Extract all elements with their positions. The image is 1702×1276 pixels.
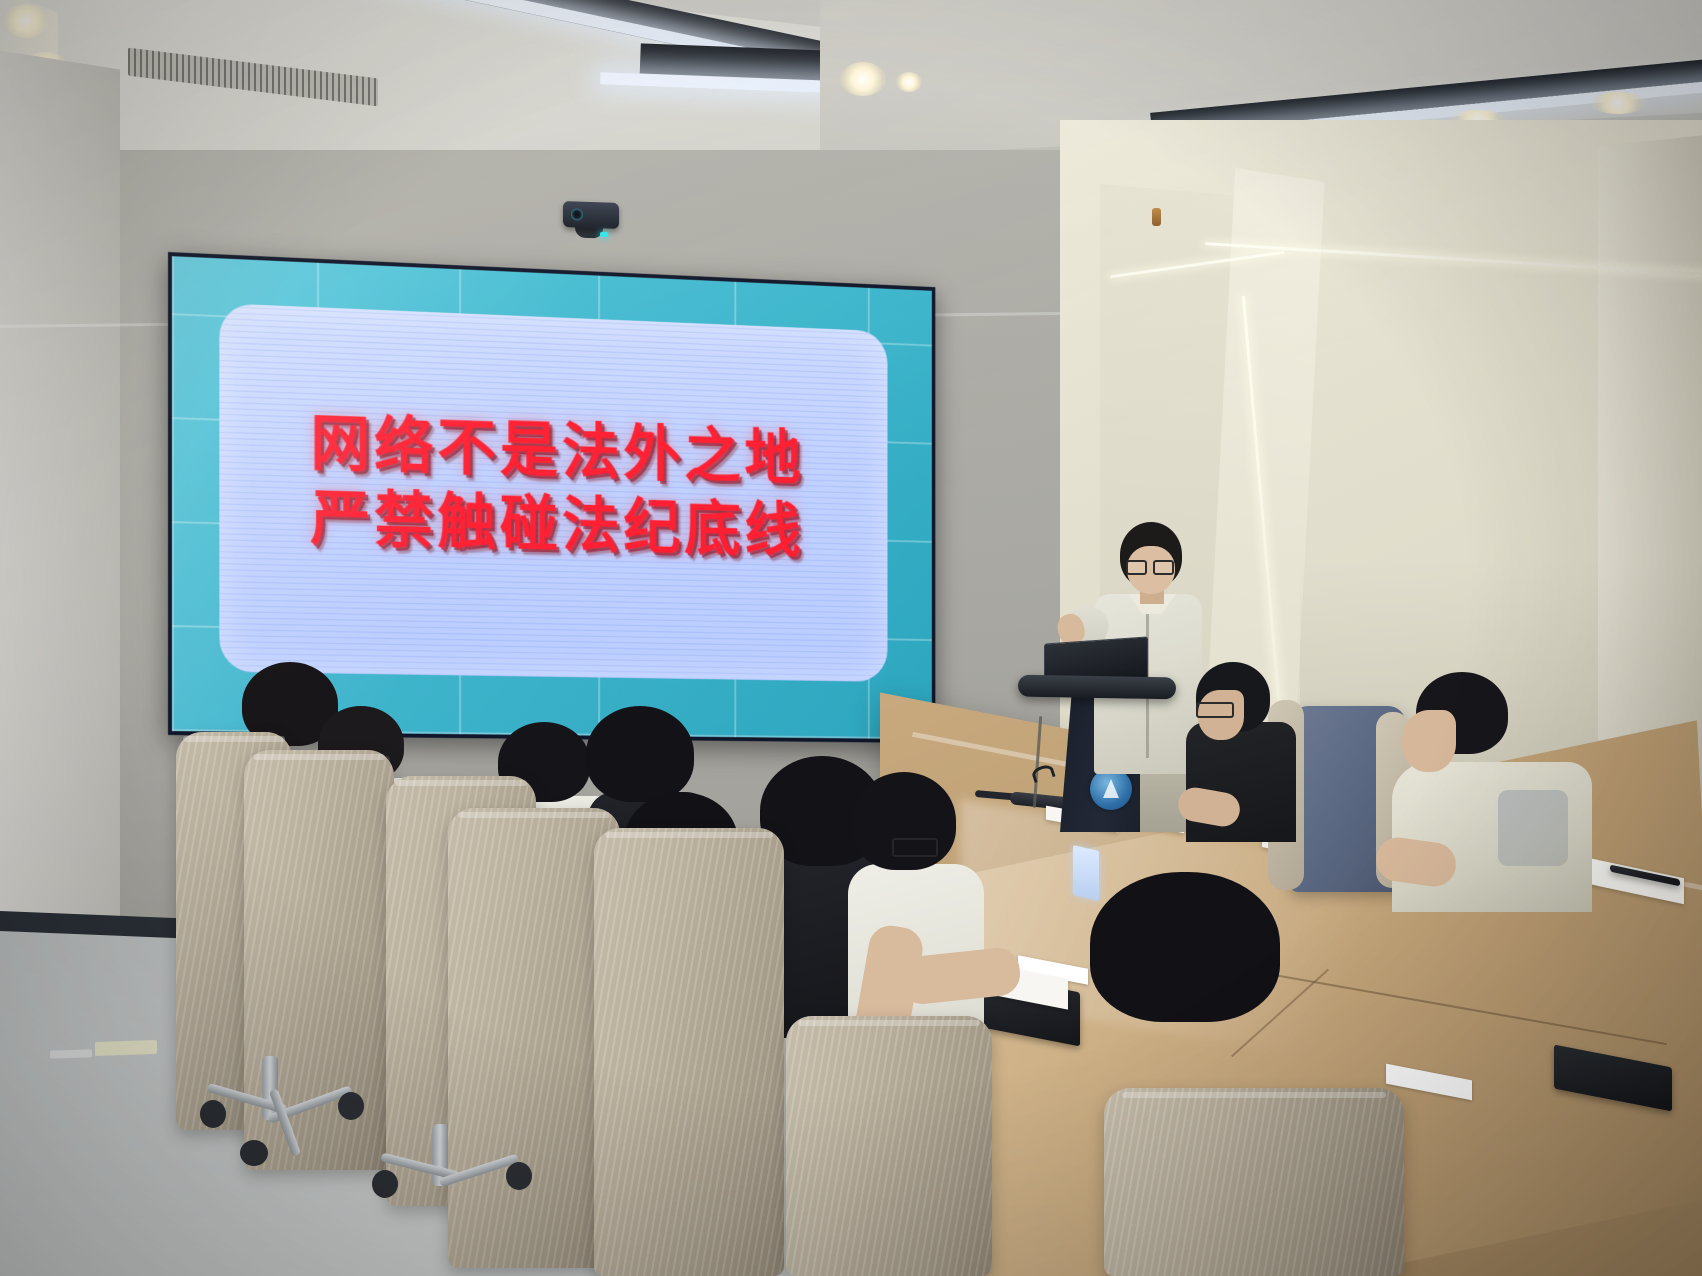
camera-status-led: [600, 232, 608, 237]
spotlight-icon: [896, 72, 922, 92]
attendee-glasses-icon: [1196, 702, 1234, 718]
video-camera-icon: [563, 201, 619, 229]
spotlight-icon: [1590, 92, 1646, 114]
chair-caster: [240, 1140, 268, 1166]
chair-texture: [594, 828, 784, 1276]
chair-texture: [786, 1016, 992, 1276]
slide-panel: 网络不是法外之地 严禁触碰法纪底线: [219, 303, 887, 682]
attendee-tee-graphic: [1498, 790, 1568, 866]
chair-caster: [200, 1100, 226, 1128]
fire-sprinkler-icon: [1152, 208, 1161, 226]
institution-emblem-icon: [1090, 768, 1132, 810]
lectern-top-rail: [1018, 675, 1176, 700]
spotlight-icon: [840, 62, 886, 96]
tabletop-display[interactable]: [1073, 845, 1099, 901]
chair-caster: [372, 1170, 398, 1198]
chair-caster: [338, 1092, 364, 1120]
chair-caster: [506, 1162, 532, 1190]
attendee-dark-polo-body: [1186, 722, 1296, 842]
presenter-glasses-icon: [1126, 560, 1172, 571]
floor-paper: [95, 1040, 157, 1056]
camera-lens-icon: [571, 208, 583, 220]
executive-chair[interactable]: [594, 828, 784, 1276]
attendee-light-tee-face: [1402, 710, 1456, 772]
floor-paper: [50, 1049, 92, 1058]
attendee-glasses-icon: [892, 838, 938, 857]
conference-room-photo: 网络不是法外之地 严禁触碰法纪底线: [0, 0, 1702, 1276]
executive-chair[interactable]: [1104, 1088, 1404, 1276]
executive-chair[interactable]: [786, 1016, 992, 1276]
left-wall: [0, 50, 120, 1029]
attendee-foreground-hair: [1090, 872, 1280, 1022]
slide-headline: 网络不是法外之地 严禁触碰法纪底线: [219, 403, 887, 570]
attendee-hair: [586, 706, 694, 802]
chair-texture: [1104, 1088, 1404, 1276]
